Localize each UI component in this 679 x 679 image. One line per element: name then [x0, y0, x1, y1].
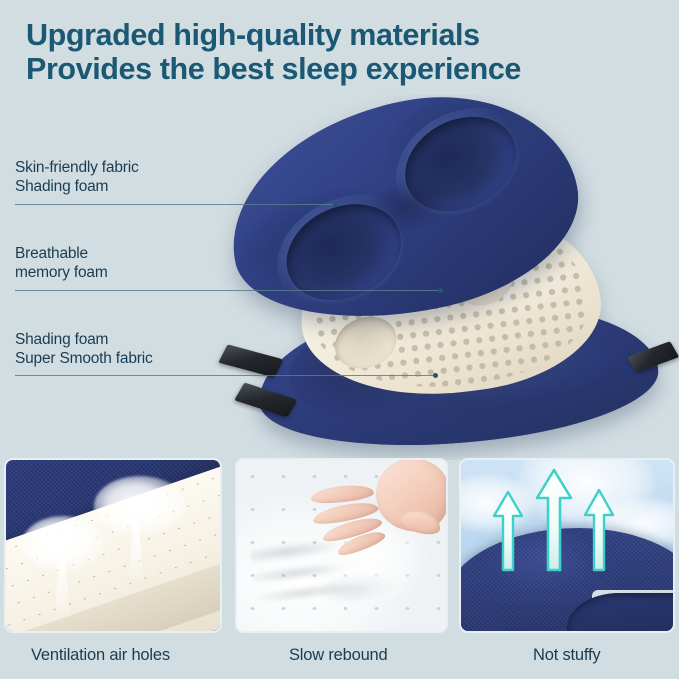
strap-tab-left-upper — [218, 344, 283, 377]
headline-line-2: Provides the best sleep experience — [26, 52, 656, 86]
callout-skin-friendly: Skin-friendly fabric Shading foam — [15, 158, 139, 196]
headline-line-1: Upgraded high-quality materials — [26, 18, 480, 52]
panel-slow-rebound — [235, 458, 448, 633]
finger-index — [310, 482, 375, 504]
callout-skin-friendly-line-2: Shading foam — [15, 177, 139, 196]
panel-not-stuffy — [459, 458, 675, 633]
airflow-arrow-center-icon — [534, 468, 574, 572]
leader-dot-shading — [433, 373, 438, 378]
leader-dot-breathable — [438, 288, 443, 293]
feature-panels — [0, 458, 679, 643]
callout-skin-friendly-line-1: Skin-friendly fabric — [15, 158, 139, 177]
steam-puff-left — [22, 516, 104, 572]
leader-line-skin-friendly — [15, 204, 337, 205]
callout-breathable-line-2: memory foam — [15, 263, 108, 282]
callout-breathable-memory-foam: Breathable memory foam — [15, 244, 108, 282]
caption-slow-rebound: Slow rebound — [289, 645, 388, 665]
steam-puff-right — [94, 476, 186, 536]
leader-line-shading — [15, 375, 435, 376]
airflow-arrow-right-icon — [582, 488, 616, 572]
eye-cup-left — [271, 187, 417, 319]
infographic-root: Upgraded high-quality materials Provides… — [0, 0, 679, 679]
caption-ventilation: Ventilation air holes — [31, 645, 170, 665]
callout-shading-line-2: Super Smooth fabric — [15, 349, 153, 368]
leader-line-breathable — [15, 290, 440, 291]
caption-not-stuffy: Not stuffy — [533, 645, 600, 665]
panel-ventilation — [4, 458, 222, 633]
callout-shading-line-1: Shading foam — [15, 330, 153, 349]
airflow-arrow-left-icon — [491, 490, 525, 572]
callout-breathable-line-1: Breathable — [15, 244, 108, 263]
leader-dot-skin-friendly — [333, 202, 338, 207]
callout-shading-super-smooth: Shading foam Super Smooth fabric — [15, 330, 153, 368]
page-title: Upgraded high-quality materials Provides… — [26, 18, 656, 86]
